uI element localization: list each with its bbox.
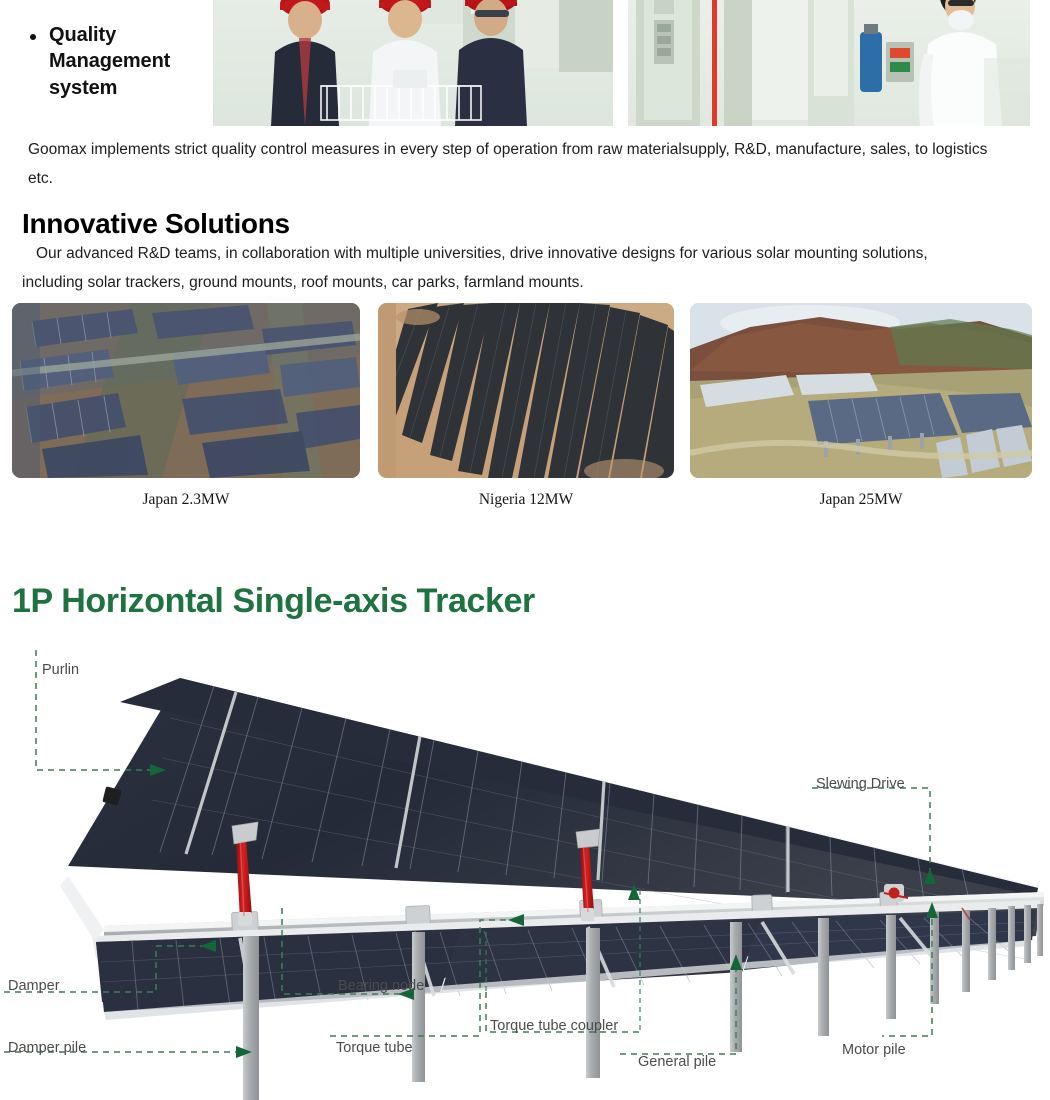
project-card[interactable]: Japan 2.3MW bbox=[12, 303, 360, 509]
tracker-diagram: Purlin Slewing Drive Damper Bearing node… bbox=[0, 640, 1050, 1100]
quality-description: Goomax implements strict quality control… bbox=[28, 135, 988, 194]
project-caption: Nigeria 12MW bbox=[378, 491, 674, 509]
quality-management-section: Quality Management system bbox=[0, 0, 1050, 200]
project-gallery: Japan 2.3MW bbox=[0, 303, 1050, 518]
project-photo-art bbox=[378, 303, 674, 478]
label-torque-tube-coupler: Torque tube coupler bbox=[490, 1018, 618, 1034]
label-slewing-drive: Slewing Drive bbox=[816, 776, 905, 792]
lab-testing-photo bbox=[628, 0, 1030, 126]
bullet-dot-icon bbox=[30, 34, 36, 40]
quality-bullet: Quality Management system bbox=[30, 22, 220, 101]
label-bearing-node: Bearing node bbox=[338, 978, 424, 994]
project-caption: Japan 25MW bbox=[690, 491, 1032, 509]
tracker-heading: 1P Horizontal Single-axis Tracker bbox=[12, 582, 535, 621]
project-photo-japan-2-3mw bbox=[12, 303, 360, 478]
project-photo-nigeria-12mw bbox=[378, 303, 674, 478]
innovative-solutions-description: Our advanced R&D teams, in collaboration… bbox=[22, 240, 987, 297]
lab-testing-photo-art bbox=[628, 0, 1030, 126]
quality-bullet-label: Quality Management system bbox=[49, 22, 220, 101]
quality-inspection-photo bbox=[213, 0, 613, 126]
project-photo-art bbox=[690, 303, 1032, 478]
label-purlin: Purlin bbox=[42, 662, 79, 678]
project-photo-art bbox=[12, 303, 360, 478]
project-card[interactable]: Japan 25MW bbox=[690, 303, 1032, 509]
quality-inspection-photo-art bbox=[213, 0, 613, 126]
label-damper-pile: Damper pile bbox=[8, 1040, 86, 1056]
innovative-solutions-heading: Innovative Solutions bbox=[22, 208, 290, 240]
label-motor-pile: Motor pile bbox=[842, 1042, 906, 1058]
project-card[interactable]: Nigeria 12MW bbox=[378, 303, 674, 509]
project-caption: Japan 2.3MW bbox=[12, 491, 360, 509]
label-general-pile: General pile bbox=[638, 1054, 716, 1070]
label-torque-tube: Torque tube bbox=[336, 1040, 413, 1056]
label-damper: Damper bbox=[8, 978, 60, 994]
project-photo-japan-25mw bbox=[690, 303, 1032, 478]
